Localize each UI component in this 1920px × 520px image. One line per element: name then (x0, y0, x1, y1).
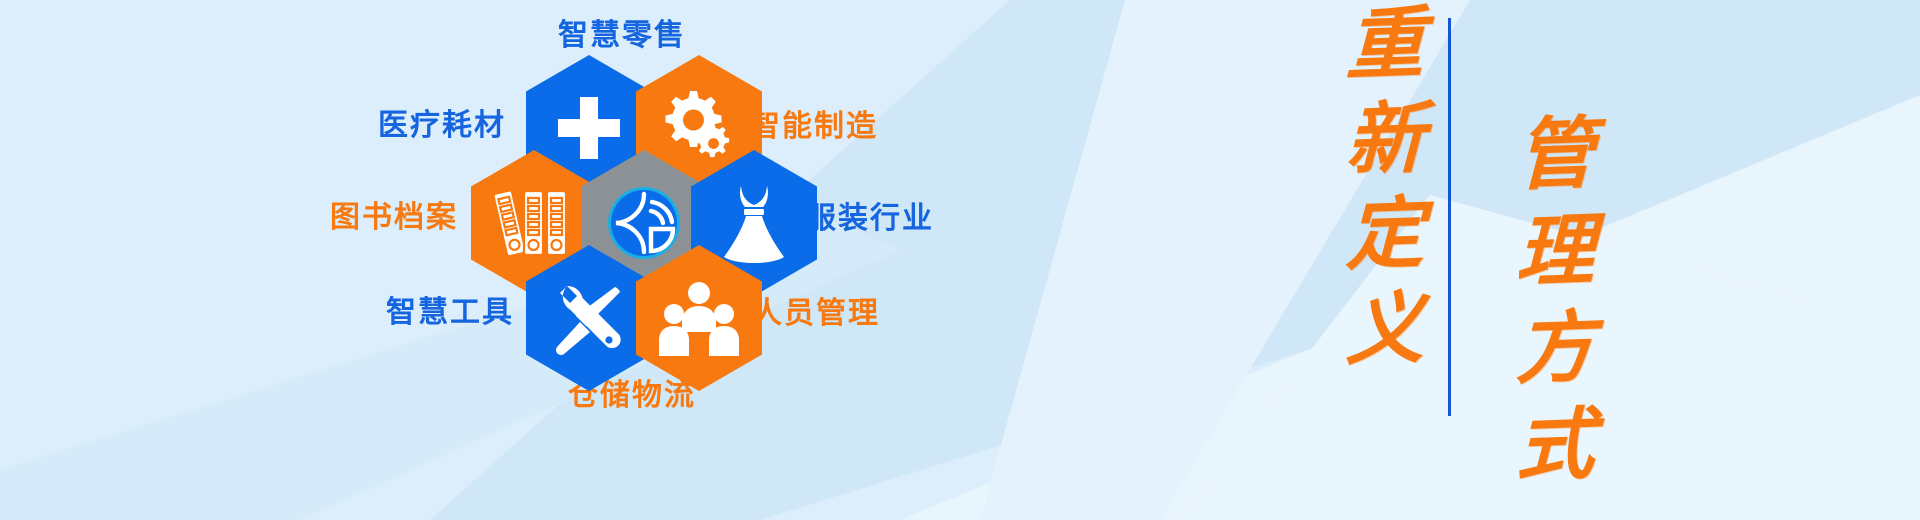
gears-icon (659, 89, 739, 167)
calligraphy-column-right: 管 理 方 式 (1490, 0, 1620, 520)
calligraphy-char: 理 (1515, 214, 1594, 292)
calligraphy-char: 管 (1515, 117, 1594, 195)
medical-cross-icon (552, 91, 626, 165)
binder-files-icon (493, 185, 575, 261)
calligraphy-panel: 重 新 定 义 管 理 方 式 (1300, 0, 1680, 520)
calligraphy-char: 重 (1345, 7, 1424, 85)
calligraphy-char: 义 (1345, 291, 1424, 369)
label-books-archives: 图书档案 (330, 192, 458, 236)
wrench-screwdriver-icon (549, 278, 629, 358)
wedding-dress-icon (716, 181, 792, 265)
calligraphy-column-left: 重 新 定 义 (1320, 0, 1450, 520)
people-group-icon (658, 280, 740, 356)
calligraphy-char: 定 (1345, 196, 1424, 274)
calligraphy-char: 新 (1345, 102, 1424, 180)
hexagon-cluster (455, 55, 915, 415)
banner-canvas: 智慧零售 医疗耗材 智能制造 图书档案 服装行业 智慧工具 人员管理 仓储物流 (0, 0, 1920, 520)
company-logo-icon (605, 184, 683, 262)
vertical-divider-line (1448, 18, 1451, 416)
calligraphy-char: 方 (1515, 310, 1594, 388)
label-smart-retail: 智慧零售 (558, 10, 686, 54)
calligraphy-char: 式 (1515, 407, 1594, 485)
